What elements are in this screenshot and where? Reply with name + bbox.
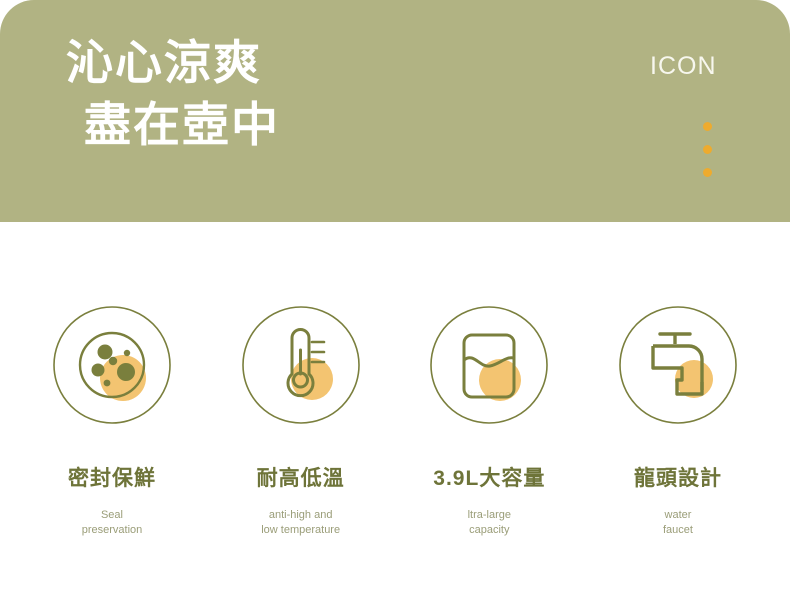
thermometer-icon: [226, 290, 376, 440]
feature-title: 密封保鮮: [68, 462, 156, 492]
dot-indicator-3: [703, 168, 712, 177]
dot-indicator-2: [703, 145, 712, 154]
feature-subtitle: Seal preservation: [82, 508, 143, 538]
hero-banner: 沁心涼爽 盡在壺中 ICON: [0, 0, 790, 222]
hero-title: 沁心涼爽 盡在壺中: [66, 35, 280, 152]
feature-item-seal-preservation: 密封保鮮 Seal preservation: [22, 290, 202, 538]
feature-subtitle: water faucet: [663, 508, 693, 538]
water-container-icon: [414, 290, 564, 440]
feature-title: 耐高低溫: [257, 462, 345, 492]
feature-item-capacity: 3.9L大容量 ltra-large capacity: [399, 290, 579, 538]
hero-icon-label: ICON: [650, 52, 717, 81]
feature-subtitle: anti-high and low temperature: [261, 508, 340, 538]
product-feature-page: 沁心涼爽 盡在壺中 ICON: [0, 0, 790, 609]
seal-petri-dish-icon: [37, 290, 187, 440]
hero-dot-indicator: [703, 122, 715, 191]
hero-title-line-2: 盡在壺中: [84, 97, 280, 152]
dot-indicator-1: [703, 122, 712, 131]
feature-title: 3.9L大容量: [433, 462, 545, 492]
feature-subtitle: ltra-large capacity: [468, 508, 511, 538]
feature-list: 密封保鮮 Seal preservation 耐高低溫 anti-high an…: [0, 290, 790, 538]
feature-item-temperature: 耐高低溫 anti-high and low temperature: [211, 290, 391, 538]
hero-title-line-1: 沁心涼爽: [66, 36, 262, 89]
feature-title: 龍頭設計: [634, 462, 722, 492]
faucet-icon: [603, 290, 753, 440]
feature-item-faucet: 龍頭設計 water faucet: [588, 290, 768, 538]
